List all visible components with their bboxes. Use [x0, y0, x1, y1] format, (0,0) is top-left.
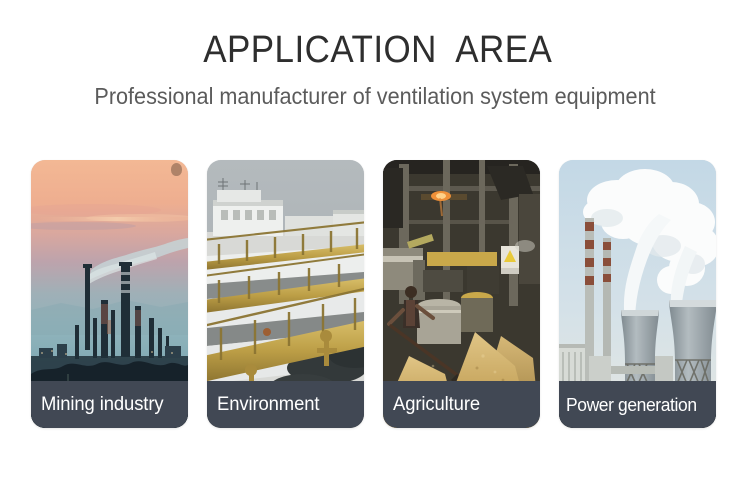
- application-area-banner: APPLICATION AREA Professional manufactur…: [0, 0, 750, 500]
- card-label-text: Mining industry: [41, 394, 163, 416]
- card-label-agriculture: Agriculture: [383, 381, 540, 428]
- page-title: APPLICATION AREA: [30, 28, 720, 72]
- card-label-text: Agriculture: [393, 394, 480, 416]
- card-label-text: Environment: [217, 394, 319, 416]
- card-mining-industry[interactable]: Mining industry: [31, 160, 188, 428]
- card-label-power-generation: Power generation: [559, 381, 716, 428]
- card-label-mining-industry: Mining industry: [31, 381, 188, 428]
- card-environment[interactable]: Environment: [207, 160, 364, 428]
- card-label-text: Power generation: [566, 394, 697, 416]
- application-cards-row: Mining industry: [31, 160, 719, 428]
- card-agriculture[interactable]: Agriculture: [383, 160, 540, 428]
- card-label-environment: Environment: [207, 381, 364, 428]
- page-subtitle: Professional manufacturer of ventilation…: [23, 72, 728, 110]
- card-power-generation[interactable]: Power generation: [559, 160, 716, 428]
- heading-block: APPLICATION AREA Professional manufactur…: [0, 28, 750, 110]
